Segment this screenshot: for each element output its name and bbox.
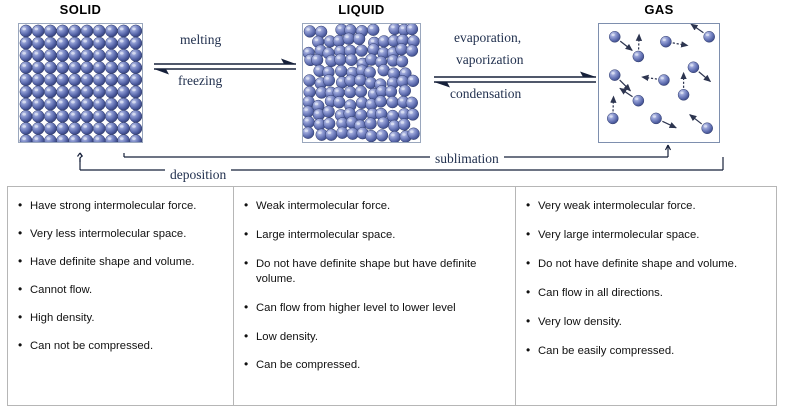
state-label-solid: SOLID: [18, 2, 143, 17]
table-column-solid: Have strong intermolecular force. Very l…: [8, 187, 234, 405]
gas-particles-svg: [599, 24, 719, 142]
list-item: Can not be compressed.: [18, 339, 225, 354]
list-item: Very weak intermolecular force.: [526, 199, 768, 214]
table-column-gas: Very weak intermolecular force. Very lar…: [516, 187, 776, 405]
particle-box-liquid: [302, 23, 421, 143]
transition-liquid-gas: evaporation, vaporization condensation: [432, 28, 602, 124]
equilibrium-arrows-evaporation: [432, 28, 602, 124]
label-deposition: deposition: [165, 167, 231, 183]
list-item: High density.: [18, 311, 225, 326]
list-item: Have definite shape and volume.: [18, 255, 225, 270]
list-item: Very less intermolecular space.: [18, 227, 225, 242]
list-item: Can be compressed.: [244, 358, 507, 373]
state-label-gas: GAS: [598, 2, 720, 17]
list-item: Large intermolecular space.: [244, 228, 507, 243]
state-label-liquid: LIQUID: [302, 2, 421, 17]
list-item: Cannot flow.: [18, 283, 225, 298]
list-item: Very low density.: [526, 315, 768, 330]
properties-comparison-table: Have strong intermolecular force. Very l…: [7, 186, 777, 406]
liquid-particles-svg: [303, 24, 420, 142]
list-item: Have strong intermolecular force.: [18, 199, 225, 214]
list-item: Can be easily compressed.: [526, 344, 768, 359]
transition-solid-liquid: melting freezing: [150, 28, 300, 118]
list-item: Do not have definite shape and volume.: [526, 257, 768, 272]
phase-diagram-stage: SOLID LIQUID GAS: [0, 0, 785, 415]
particle-box-solid: [18, 23, 143, 143]
sublimation-deposition-svg: [0, 140, 785, 188]
label-sublimation: sublimation: [430, 151, 504, 167]
list-item: Can flow in all directions.: [526, 286, 768, 301]
transition-solid-gas-paths: sublimation deposition: [0, 140, 785, 188]
list-item: Low density.: [244, 330, 507, 345]
particle-box-gas: [598, 23, 720, 143]
list-item: Can flow from higher level to lower leve…: [244, 301, 507, 316]
equilibrium-arrows-melting: [150, 28, 300, 118]
table-column-liquid: Weak intermolecular force. Large intermo…: [234, 187, 516, 405]
solid-lattice-svg: [19, 24, 142, 142]
list-item: Weak intermolecular force.: [244, 199, 507, 214]
list-item: Do not have definite shape but have defi…: [244, 257, 507, 287]
list-item: Very large intermolecular space.: [526, 228, 768, 243]
